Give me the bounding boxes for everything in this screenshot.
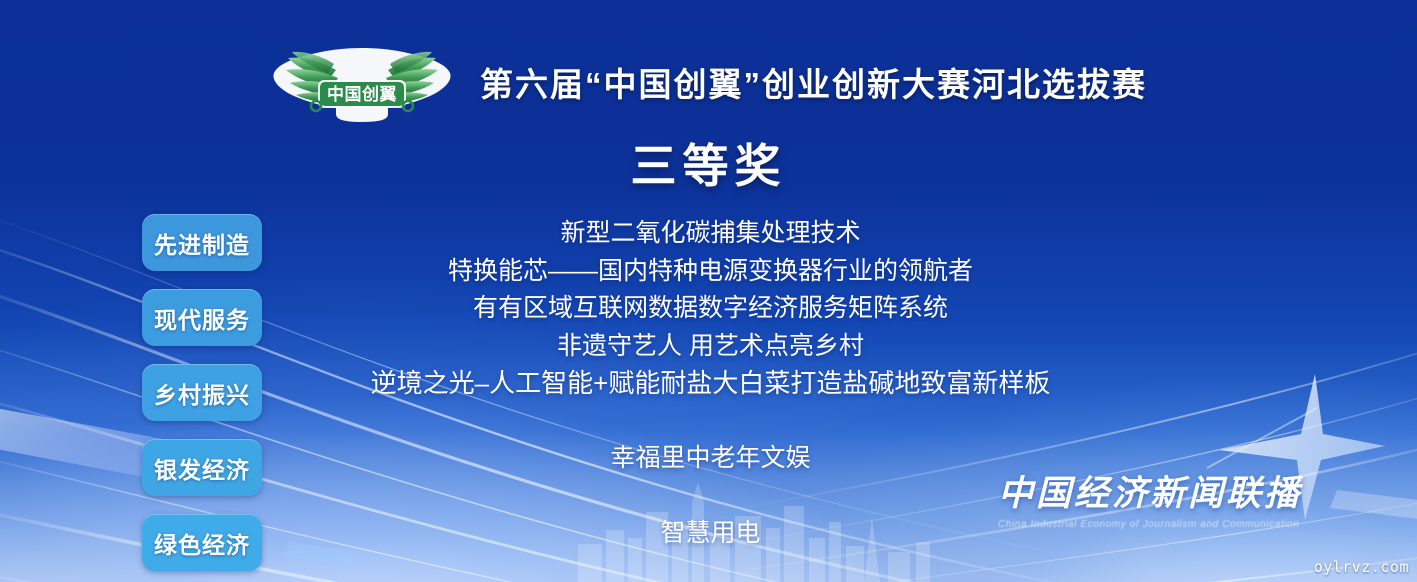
category-tag-label: 先进制造 bbox=[154, 226, 250, 260]
poster-header: 中国创翼 第六届“中国创翼”创业创新大赛河北选拔赛 bbox=[0, 38, 1417, 126]
entry-group-modern-service: 有有区域互联网数据数字经济服务矩阵系统 非遗守艺人 用艺术点亮乡村 bbox=[262, 289, 1159, 364]
category-tag-column: 先进制造 现代服务 乡村振兴 银发经济 绿色经济 bbox=[0, 214, 262, 582]
entry-group-rural-revitalization: 逆境之光–人工智能+赋能耐盐大白菜打造盐碱地致富新样板 bbox=[262, 364, 1159, 439]
category-tag-green-economy[interactable]: 绿色经济 bbox=[142, 514, 262, 571]
category-tag-advanced-manufacturing[interactable]: 先进制造 bbox=[142, 214, 262, 271]
entry-item: 特换能芯——国内特种电源变换器行业的领航者 bbox=[448, 252, 973, 290]
category-tag-rural-revitalization[interactable]: 乡村振兴 bbox=[142, 364, 262, 421]
entry-item: 有有区域互联网数据数字经济服务矩阵系统 bbox=[473, 289, 948, 327]
entry-group-advanced-manufacturing: 新型二氧化碳捕集处理技术 特换能芯——国内特种电源变换器行业的领航者 bbox=[262, 214, 1159, 289]
entry-group-silver-economy: 幸福里中老年文娱 bbox=[262, 439, 1159, 514]
svg-text:中国创翼: 中国创翼 bbox=[327, 84, 397, 104]
page-title: 第六届“中国创翼”创业创新大赛河北选拔赛 bbox=[480, 58, 1147, 106]
award-poster: 中国创翼 第六届“中国创翼”创业创新大赛河北选拔赛 三等奖 先进制造 现代服务 … bbox=[0, 0, 1417, 582]
entry-group-green-economy: 智慧用电 bbox=[262, 514, 1159, 582]
category-tag-modern-service[interactable]: 现代服务 bbox=[142, 289, 262, 346]
entry-item: 幸福里中老年文娱 bbox=[610, 439, 810, 477]
site-watermark: oylrvz.com bbox=[1314, 558, 1409, 576]
award-level-heading: 三等奖 bbox=[0, 130, 1417, 196]
entry-item: 非遗守艺人 用艺术点亮乡村 bbox=[557, 327, 864, 365]
china-chuangyi-wings-logo-icon: 中国创翼 bbox=[270, 40, 454, 126]
award-content: 先进制造 现代服务 乡村振兴 银发经济 绿色经济 新型二氧化碳捕集处理技术 特换… bbox=[0, 214, 1417, 582]
entry-item: 新型二氧化碳捕集处理技术 bbox=[560, 214, 860, 252]
entry-column: 新型二氧化碳捕集处理技术 特换能芯——国内特种电源变换器行业的领航者 有有区域互… bbox=[262, 214, 1417, 582]
entry-item: 智慧用电 bbox=[660, 514, 760, 552]
category-tag-silver-economy[interactable]: 银发经济 bbox=[142, 439, 262, 496]
category-tag-label: 现代服务 bbox=[154, 301, 250, 335]
category-tag-label: 乡村振兴 bbox=[154, 376, 250, 410]
category-tag-label: 绿色经济 bbox=[154, 526, 250, 560]
entry-item: 逆境之光–人工智能+赋能耐盐大白菜打造盐碱地致富新样板 bbox=[371, 364, 1051, 402]
category-tag-label: 银发经济 bbox=[154, 451, 250, 485]
